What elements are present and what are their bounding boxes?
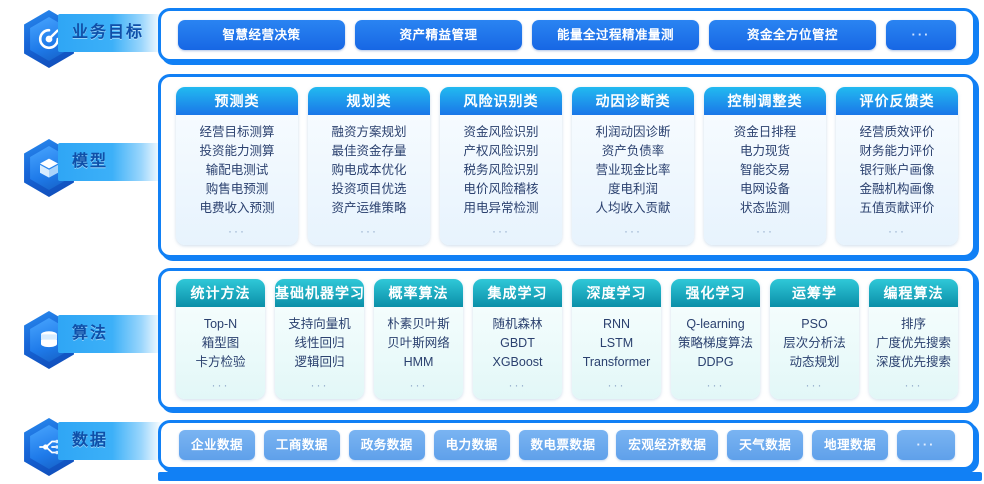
algo-card[interactable]: 概率算法朴素贝叶斯贝叶斯网络HMM···	[374, 279, 463, 399]
algo-card-title: 运筹学	[770, 279, 859, 307]
algo-card-body: Top-N箱型图卡方检验···	[176, 307, 265, 399]
algo-item-more[interactable]: ···	[806, 376, 824, 395]
model-item[interactable]: 投资项目优选	[331, 180, 406, 199]
model-item-more[interactable]: ···	[360, 222, 378, 241]
rail-label-model: 模型	[72, 143, 108, 181]
model-card-title: 预测类	[176, 87, 298, 115]
algorithm-card-grid: 统计方法Top-N箱型图卡方检验···基础机器学习支持向量机线性回归逻辑回归··…	[161, 279, 973, 399]
algo-card-body: 朴素贝叶斯贝叶斯网络HMM···	[374, 307, 463, 399]
algo-item[interactable]: HMM	[404, 353, 434, 372]
algo-item[interactable]: Top-N	[204, 315, 237, 334]
algo-item[interactable]: 随机森林	[492, 315, 542, 334]
algo-card-title: 编程算法	[869, 279, 958, 307]
model-card[interactable]: 动因诊断类利润动因诊断资产负债率营业现金比率度电利润人均收入贡献···	[572, 87, 694, 245]
algo-card-title: 集成学习	[473, 279, 562, 307]
algo-item[interactable]: 逻辑回归	[294, 353, 344, 372]
goal-pill-1[interactable]: 资产精益管理	[355, 20, 522, 50]
algo-card[interactable]: 统计方法Top-N箱型图卡方检验···	[176, 279, 265, 399]
algo-item-more[interactable]: ···	[410, 376, 428, 395]
model-item[interactable]: 用电异常检测	[463, 199, 538, 218]
algo-card-body: Q-learning策略梯度算法DDPG···	[671, 307, 760, 399]
algo-item-more[interactable]: ···	[212, 376, 230, 395]
algo-item-more[interactable]: ···	[905, 376, 923, 395]
panel-models: 预测类经营目标测算投资能力测算输配电测试购售电预测电费收入预测···规划类融资方…	[158, 74, 976, 258]
model-item-more[interactable]: ···	[888, 222, 906, 241]
algo-card-body: 支持向量机线性回归逻辑回归···	[275, 307, 364, 399]
algo-item-more[interactable]: ···	[608, 376, 626, 395]
model-item[interactable]: 电力现货	[740, 142, 790, 161]
model-card-title: 控制调整类	[704, 87, 826, 115]
model-item[interactable]: 经营目标测算	[199, 123, 274, 142]
data-pill-1[interactable]: 工商数据	[264, 430, 340, 460]
algo-card-title: 概率算法	[374, 279, 463, 307]
algo-item[interactable]: Transformer	[583, 353, 651, 372]
model-item[interactable]: 资金风险识别	[463, 123, 538, 142]
model-item[interactable]: 利润动因诊断	[595, 123, 670, 142]
model-item-more[interactable]: ···	[492, 222, 510, 241]
bottom-accent-bar	[158, 472, 982, 481]
model-card-body: 资金风险识别产权风险识别税务风险识别电价风险稽核用电异常检测···	[440, 115, 562, 245]
model-card-title: 评价反馈类	[836, 87, 958, 115]
algo-item[interactable]: 卡方检验	[195, 353, 245, 372]
model-item[interactable]: 购电成本优化	[331, 161, 406, 180]
algo-item-more[interactable]: ···	[509, 376, 527, 395]
algo-item[interactable]: 层次分析法	[783, 334, 846, 353]
model-card-title: 动因诊断类	[572, 87, 694, 115]
panel-data-sources: 企业数据工商数据政务数据电力数据数电票数据宏观经济数据天气数据地理数据···	[158, 420, 976, 470]
panel-business-goals: 智慧经营决策资产精益管理能量全过程精准量测资金全方位管控···	[158, 8, 976, 62]
model-item[interactable]: 度电利润	[608, 180, 658, 199]
algo-item[interactable]: 支持向量机	[288, 315, 351, 334]
model-card[interactable]: 控制调整类资金日排程电力现货智能交易电网设备状态监测···	[704, 87, 826, 245]
model-card-title: 风险识别类	[440, 87, 562, 115]
data-pill-4[interactable]: 数电票数据	[519, 430, 608, 460]
model-item[interactable]: 银行账户画像	[859, 161, 934, 180]
algo-card-title: 强化学习	[671, 279, 760, 307]
algo-card-body: 排序广度优先搜索深度优先搜索···	[869, 307, 958, 399]
goal-pill-0[interactable]: 智慧经营决策	[178, 20, 345, 50]
algo-item-more[interactable]: ···	[311, 376, 329, 395]
goal-pill-more[interactable]: ···	[886, 20, 956, 50]
model-item[interactable]: 投资能力测算	[199, 142, 274, 161]
data-pill-more[interactable]: ···	[897, 430, 955, 460]
algo-item[interactable]: 广度优先搜索	[876, 334, 951, 353]
rail-label-goal: 业务目标	[72, 14, 144, 52]
panel-algorithms: 统计方法Top-N箱型图卡方检验···基础机器学习支持向量机线性回归逻辑回归··…	[158, 268, 976, 410]
model-item[interactable]: 营业现金比率	[595, 161, 670, 180]
data-pill-7[interactable]: 地理数据	[812, 430, 888, 460]
algo-item[interactable]: XGBoost	[492, 353, 542, 372]
algo-card[interactable]: 集成学习随机森林GBDTXGBoost···	[473, 279, 562, 399]
algo-card-title: 统计方法	[176, 279, 265, 307]
data-pill-3[interactable]: 电力数据	[434, 430, 510, 460]
algo-card[interactable]: 深度学习RNNLSTMTransformer···	[572, 279, 661, 399]
model-item[interactable]: 产权风险识别	[463, 142, 538, 161]
model-item-more[interactable]: ···	[228, 222, 246, 241]
model-item[interactable]: 电网设备	[740, 180, 790, 199]
data-pill-row: 企业数据工商数据政务数据电力数据数电票数据宏观经济数据天气数据地理数据···	[161, 430, 973, 460]
model-item[interactable]: 资产运维策略	[331, 199, 406, 218]
data-pill-5[interactable]: 宏观经济数据	[616, 430, 718, 460]
data-pill-6[interactable]: 天气数据	[727, 430, 803, 460]
model-item[interactable]: 状态监测	[740, 199, 790, 218]
goal-pill-3[interactable]: 资金全方位管控	[709, 20, 876, 50]
model-card[interactable]: 规划类融资方案规划最佳资金存量购电成本优化投资项目优选资产运维策略···	[308, 87, 430, 245]
algo-item[interactable]: 贝叶斯网络	[387, 334, 450, 353]
algo-item[interactable]: 动态规划	[789, 353, 839, 372]
algo-card-body: PSO层次分析法动态规划···	[770, 307, 859, 399]
algo-item[interactable]: Q-learning	[686, 315, 744, 334]
model-card-body: 融资方案规划最佳资金存量购电成本优化投资项目优选资产运维策略···	[308, 115, 430, 245]
rail-label-algorithm: 算法	[72, 315, 108, 353]
algo-item[interactable]: 线性回归	[294, 334, 344, 353]
algo-item[interactable]: 策略梯度算法	[678, 334, 753, 353]
model-item[interactable]: 资产负债率	[602, 142, 665, 161]
algo-item[interactable]: GBDT	[500, 334, 535, 353]
model-item[interactable]: 融资方案规划	[331, 123, 406, 142]
model-item[interactable]: 电费收入预测	[199, 199, 274, 218]
algo-card[interactable]: 基础机器学习支持向量机线性回归逻辑回归···	[275, 279, 364, 399]
algo-item[interactable]: 排序	[901, 315, 926, 334]
model-item[interactable]: 电价风险稽核	[463, 180, 538, 199]
algo-item[interactable]: LSTM	[600, 334, 633, 353]
algo-card-title: 深度学习	[572, 279, 661, 307]
model-card[interactable]: 风险识别类资金风险识别产权风险识别税务风险识别电价风险稽核用电异常检测···	[440, 87, 562, 245]
model-item-more[interactable]: ···	[624, 222, 642, 241]
model-item[interactable]: 金融机构画像	[859, 180, 934, 199]
model-item[interactable]: 人均收入贡献	[595, 199, 670, 218]
algo-item[interactable]: 朴素贝叶斯	[387, 315, 450, 334]
algo-item[interactable]: PSO	[801, 315, 827, 334]
algo-card-body: 随机森林GBDTXGBoost···	[473, 307, 562, 399]
model-item[interactable]: 智能交易	[740, 161, 790, 180]
algo-card-title: 基础机器学习	[275, 279, 364, 307]
model-card-body: 经营目标测算投资能力测算输配电测试购售电预测电费收入预测···	[176, 115, 298, 245]
algo-card[interactable]: 编程算法排序广度优先搜索深度优先搜索···	[869, 279, 958, 399]
algo-item[interactable]: 深度优先搜索	[876, 353, 951, 372]
algo-card[interactable]: 运筹学PSO层次分析法动态规划···	[770, 279, 859, 399]
rail-label-data: 数据	[72, 422, 108, 460]
model-item-more[interactable]: ···	[756, 222, 774, 241]
algo-card[interactable]: 强化学习Q-learning策略梯度算法DDPG···	[671, 279, 760, 399]
model-card-title: 规划类	[308, 87, 430, 115]
model-item[interactable]: 税务风险识别	[463, 161, 538, 180]
model-card-body: 经营质效评价财务能力评价银行账户画像金融机构画像五值贡献评价···	[836, 115, 958, 245]
model-item[interactable]: 输配电测试	[206, 161, 269, 180]
model-card-grid: 预测类经营目标测算投资能力测算输配电测试购售电预测电费收入预测···规划类融资方…	[161, 87, 973, 245]
model-item[interactable]: 购售电预测	[206, 180, 269, 199]
model-card[interactable]: 预测类经营目标测算投资能力测算输配电测试购售电预测电费收入预测···	[176, 87, 298, 245]
model-item[interactable]: 五值贡献评价	[859, 199, 934, 218]
model-item[interactable]: 财务能力评价	[859, 142, 934, 161]
model-card[interactable]: 评价反馈类经营质效评价财务能力评价银行账户画像金融机构画像五值贡献评价···	[836, 87, 958, 245]
model-card-body: 资金日排程电力现货智能交易电网设备状态监测···	[704, 115, 826, 245]
goal-pill-2[interactable]: 能量全过程精准量测	[532, 20, 699, 50]
goal-pill-row: 智慧经营决策资产精益管理能量全过程精准量测资金全方位管控···	[161, 20, 973, 50]
model-item[interactable]: 资金日排程	[734, 123, 797, 142]
model-card-body: 利润动因诊断资产负债率营业现金比率度电利润人均收入贡献···	[572, 115, 694, 245]
data-pill-2[interactable]: 政务数据	[349, 430, 425, 460]
algo-item-more[interactable]: ···	[707, 376, 725, 395]
algo-item[interactable]: DDPG	[697, 353, 733, 372]
algo-item[interactable]: 箱型图	[202, 334, 240, 353]
algo-card-body: RNNLSTMTransformer···	[572, 307, 661, 399]
algo-item[interactable]: RNN	[603, 315, 630, 334]
model-item[interactable]: 经营质效评价	[859, 123, 934, 142]
model-item[interactable]: 最佳资金存量	[331, 142, 406, 161]
architecture-diagram: 业务目标 模型	[0, 0, 984, 484]
data-pill-0[interactable]: 企业数据	[179, 430, 255, 460]
